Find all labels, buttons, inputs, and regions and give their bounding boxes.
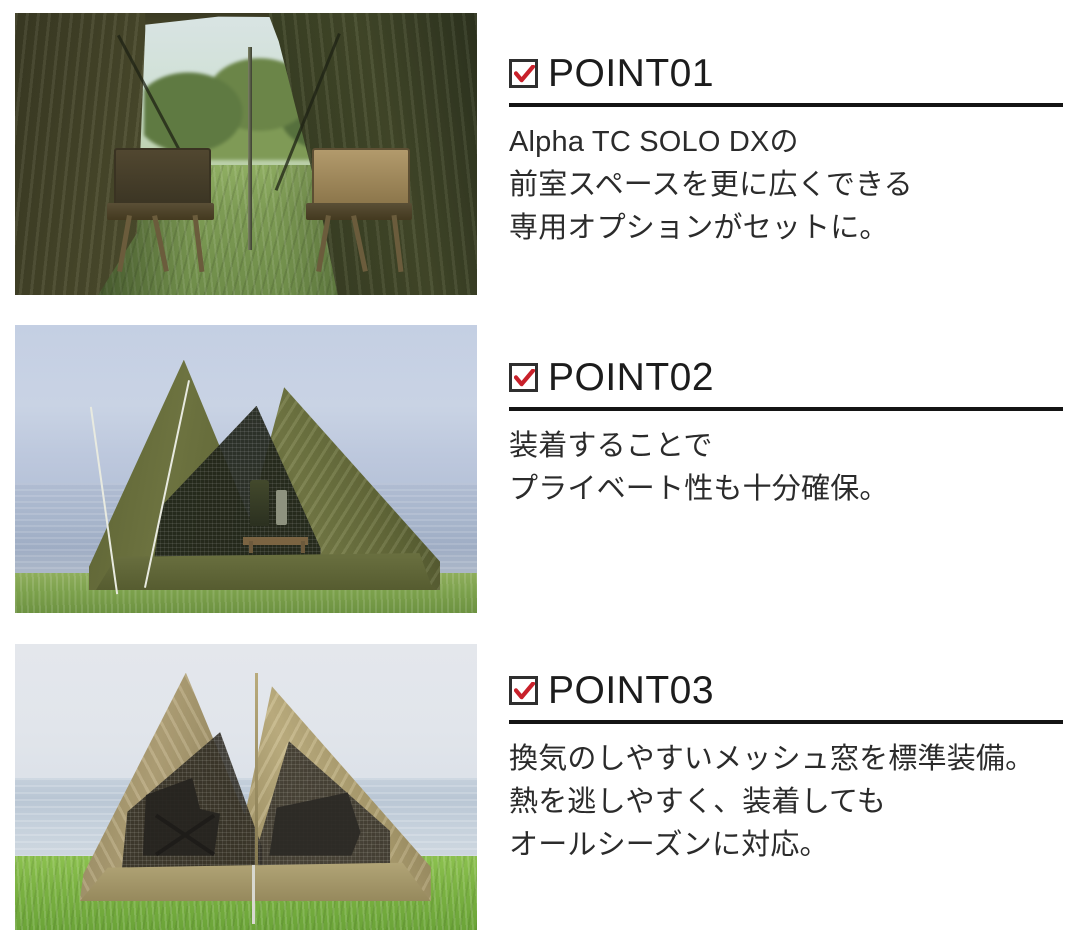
point-text-block-1: POINT01 Alpha TC SOLO DXの 前室スペースを更に広くできる… <box>509 51 1065 250</box>
body-line: Alpha TC SOLO DXの <box>509 121 1065 164</box>
point-heading-2: POINT02 <box>509 355 1065 399</box>
camp-lantern <box>276 490 287 524</box>
photo-1-scene <box>15 13 477 295</box>
point-title: POINT02 <box>548 358 714 397</box>
photo-2-scene <box>15 325 477 613</box>
interior-gear <box>243 475 313 553</box>
water-jug <box>250 480 268 527</box>
heading-divider <box>509 407 1063 411</box>
body-line: 換気のしやすいメッシュ窓を標準装備。 <box>509 738 1065 781</box>
checked-checkbox-icon <box>509 59 538 88</box>
tan-a-frame-tent-mesh-photo <box>15 644 477 930</box>
table-leg <box>249 541 253 554</box>
point-body-1: Alpha TC SOLO DXの 前室スペースを更に広くできる 専用オプション… <box>509 121 1065 250</box>
point-heading-1: POINT01 <box>509 51 1065 95</box>
tent-ridge-seam <box>255 673 258 893</box>
chair-leg <box>351 215 368 272</box>
body-line: 熱を逃しやすく、装着しても <box>509 781 1065 824</box>
olive-a-frame-tent-photo <box>15 325 477 613</box>
chair-leg <box>192 215 204 272</box>
point-row-2: POINT02 装着することで プライベート性も十分確保。 <box>0 325 1080 613</box>
chair-leg <box>316 215 331 272</box>
body-line: プライベート性も十分確保。 <box>509 468 1065 511</box>
point-text-block-3: POINT03 換気のしやすいメッシュ窓を標準装備。 熱を逃しやすく、装着しても… <box>509 668 1065 867</box>
point-title: POINT03 <box>548 671 714 710</box>
chair-leg <box>153 215 170 272</box>
camp-chair-right <box>306 148 412 272</box>
a-frame-tent <box>80 673 431 902</box>
heading-divider <box>509 103 1063 107</box>
point-body-3: 換気のしやすいメッシュ窓を標準装備。 熱を逃しやすく、装着しても オールシーズン… <box>509 738 1065 867</box>
chair-leg <box>117 215 132 272</box>
front-pole <box>252 865 255 924</box>
chair-leg <box>391 215 403 272</box>
checked-checkbox-icon <box>509 676 538 705</box>
center-pole <box>248 47 252 250</box>
point-body-2: 装着することで プライベート性も十分確保。 <box>509 425 1065 511</box>
body-line: 前室スペースを更に広くできる <box>509 164 1065 207</box>
camp-chair-left <box>107 148 213 272</box>
body-line: 装着することで <box>509 425 1065 468</box>
tent-vestibule-interior-photo <box>15 13 477 295</box>
point-row-3: POINT03 換気のしやすいメッシュ窓を標準装備。 熱を逃しやすく、装着しても… <box>0 644 1080 930</box>
product-feature-page: POINT01 Alpha TC SOLO DXの 前室スペースを更に広くできる… <box>0 0 1080 947</box>
camp-table <box>243 537 308 545</box>
heading-divider <box>509 720 1063 724</box>
chair-back <box>312 148 410 209</box>
point-title: POINT01 <box>548 54 714 93</box>
point-heading-3: POINT03 <box>509 668 1065 712</box>
table-leg <box>301 541 305 554</box>
chair-back <box>114 148 212 209</box>
body-line: オールシーズンに対応。 <box>509 824 1065 867</box>
point-text-block-2: POINT02 装着することで プライベート性も十分確保。 <box>509 355 1065 511</box>
a-frame-tent <box>89 360 440 590</box>
checked-checkbox-icon <box>509 363 538 392</box>
point-row-1: POINT01 Alpha TC SOLO DXの 前室スペースを更に広くできる… <box>0 13 1080 295</box>
chair-cross-frame <box>150 814 220 855</box>
photo-3-scene <box>15 644 477 930</box>
body-line: 専用オプションがセットに。 <box>509 207 1065 250</box>
